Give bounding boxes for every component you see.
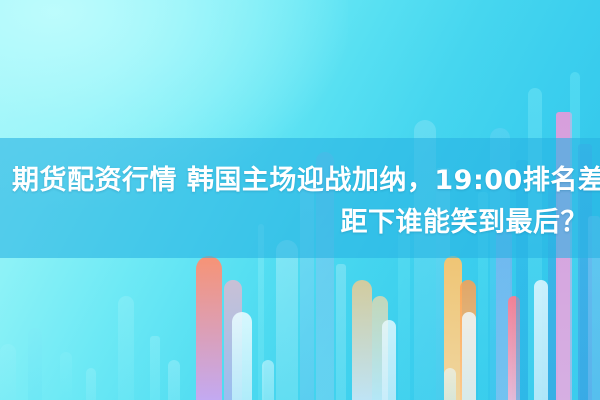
chart-bar: [118, 296, 134, 400]
headline-line-1: 期货配资行情 韩国主场迎战加纳，19:00排名差: [12, 160, 588, 202]
chart-bar: [0, 344, 16, 400]
chart-bar: [336, 264, 346, 400]
chart-bar: [462, 312, 476, 400]
chart-bar: [86, 368, 96, 400]
headline-line-2: 距下谁能笑到最后？: [12, 202, 588, 244]
chart-bar: [196, 256, 222, 400]
chart-bar: [28, 328, 42, 400]
banner-image: 期货配资行情 韩国主场迎战加纳，19:00排名差 距下谁能笑到最后？: [0, 0, 600, 400]
chart-bar: [150, 336, 160, 400]
chart-bar: [382, 320, 396, 400]
headline-text: 期货配资行情 韩国主场迎战加纳，19:00排名差 距下谁能笑到最后？: [0, 160, 600, 244]
chart-bar: [352, 280, 372, 400]
chart-bar: [276, 240, 298, 400]
chart-bar: [534, 280, 548, 400]
chart-bar: [232, 312, 252, 400]
chart-bar: [262, 360, 274, 400]
chart-bar: [60, 352, 72, 400]
chart-bar: [168, 360, 180, 400]
chart-bar: [444, 368, 456, 400]
